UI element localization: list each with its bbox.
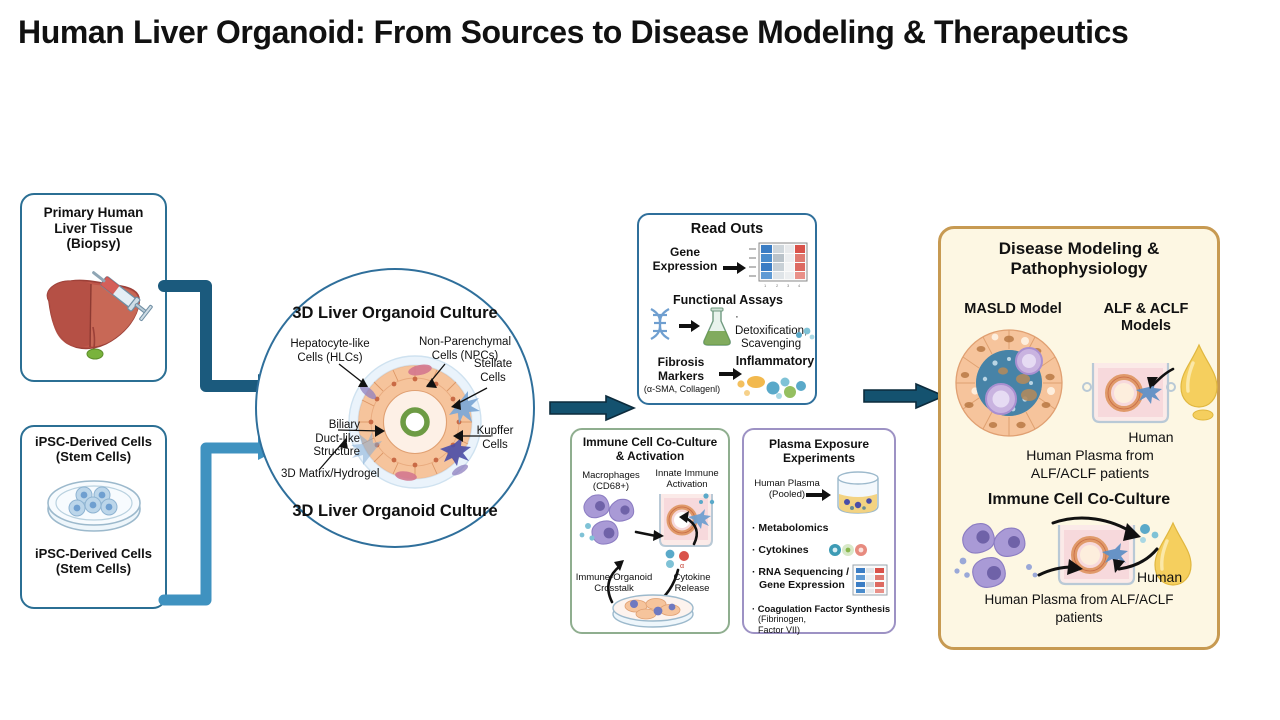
steatotic-organoid-icon — [951, 325, 1067, 441]
plasma-into-bioreactor-arrow-icon — [1139, 365, 1179, 393]
immune-panel-title: Immune Cell Co-Culture & Activation — [572, 436, 728, 463]
rna-seq-line-1: RNA Sequencing / — [758, 566, 849, 578]
primary-tissue-line-2: Liver Tissue — [22, 221, 165, 237]
plasma-arrow-icon — [806, 488, 832, 502]
source-card-ipsc-derived-cells[interactable]: iPSC-Derived Cells (Stem Cells) iPSC-Der… — [20, 425, 167, 609]
disease-title-line-1: Disease Modeling & — [941, 239, 1217, 259]
disease-panel-title: Disease Modeling & Pathophysiology — [941, 239, 1217, 278]
dna-helix-icon — [645, 307, 679, 349]
ipsc-title-label: iPSC-Derived Cells (Stem Cells) — [22, 435, 165, 465]
gene-expression-line-2: Expression — [647, 259, 723, 273]
svg-text:α: α — [680, 563, 684, 570]
petri-dish-organoids-icon — [610, 590, 696, 628]
immune-coculture-panel[interactable]: Immune Cell Co-Culture & Activation Macr… — [570, 428, 730, 634]
coagulation-text: Coagulation Factor Synthesis — [758, 603, 890, 614]
plasma-title-line-2: Experiments — [744, 452, 894, 466]
plasma-title-line-1: Plasma Exposure — [744, 438, 894, 452]
fibrosis-line-2: Markers — [641, 369, 721, 383]
ipsc-title-line-1: iPSC-Derived Cells — [22, 435, 165, 450]
immune-title-line-2: & Activation — [572, 450, 728, 464]
functional-assays-label: Functional Assays — [663, 293, 793, 308]
ipsc-caption-line-2: (Stem Cells) — [22, 562, 165, 577]
primary-tissue-line-3: (Biopsy) — [22, 236, 165, 252]
macrophages-line-1: Macrophages — [574, 470, 648, 481]
svg-text:3: 3 — [787, 283, 790, 288]
plasma-beaker-icon — [832, 472, 888, 518]
primary-tissue-label: Primary Human Liver Tissue (Biopsy) — [22, 205, 165, 252]
cytokine-dots-icon — [828, 543, 870, 557]
organoid-title-top: 3D Liver Organoid Culture — [255, 304, 535, 323]
plasma-bullet-coagulation: · Coagulation Factor Synthesis — [752, 603, 894, 614]
cytokine-particles-icon — [735, 372, 815, 400]
crosstalk-line-1: Immune-Organoid — [572, 572, 656, 583]
bullet-dot: · — [752, 566, 756, 578]
heatmap-icon: 1234 — [747, 241, 809, 289]
innate-line-1: Innate Immune — [648, 468, 726, 479]
ipsc-title-line-2: (Stem Cells) — [22, 450, 165, 465]
arrow-readouts-to-disease — [862, 383, 948, 413]
disease-title-line-2: Pathophysiology — [941, 259, 1217, 279]
coculture-plasma-caption: Human Plasma from ALF/ACLF patients — [947, 591, 1211, 626]
plasma-bullet-metabolomics: · Metabolomics — [752, 522, 890, 534]
coculture-caption-line-1: Human Plasma from ALF/ACLF — [947, 591, 1211, 609]
plasma-bullet-rna-seq: · RNA Sequencing / Gene Expression — [752, 566, 852, 592]
rna-seq-line-2: Gene Expression — [752, 579, 852, 592]
alf-label-line-1: ALF & ACLF — [1081, 301, 1211, 318]
liver-with-syringe-icon — [35, 257, 153, 365]
readouts-panel[interactable]: Read Outs Gene Expression — [637, 213, 817, 405]
immune-title-line-1: Immune Cell Co-Culture — [572, 436, 728, 450]
bullet-dot: · — [752, 522, 756, 534]
readouts-title: Read Outs — [639, 221, 815, 238]
coculture-human-label: Human — [1137, 569, 1217, 585]
organoid-leader-lines — [255, 330, 540, 510]
plasma-caption-line-1: Human Plasma from — [969, 447, 1211, 465]
gene-expression-label: Gene Expression — [647, 245, 723, 273]
gene-expression-line-1: Gene — [647, 245, 723, 259]
coagulation-sub-label: (Fibrinogen, Factor VII) — [758, 614, 888, 637]
cytokines-text: Cytokines — [758, 544, 808, 556]
coagulation-sub-line-2: Factor VII) — [758, 625, 888, 636]
inflammatory-label: Inflammatory — [735, 354, 815, 369]
plasma-panel-title: Plasma Exposure Experiments — [744, 438, 894, 466]
metabolomics-text: Metabolomics — [758, 522, 828, 534]
erlenmeyer-flask-icon — [701, 307, 733, 347]
ipsc-caption-label: iPSC-Derived Cells (Stem Cells) — [22, 547, 165, 577]
alf-aclf-models-label: ALF & ACLF Models — [1081, 301, 1211, 334]
petri-dish-stem-cells-icon — [44, 475, 144, 537]
scavenging-particles-icon — [794, 327, 816, 341]
source-card-primary-liver-tissue[interactable]: Primary Human Liver Tissue (Biopsy) — [20, 193, 167, 382]
svg-text:4: 4 — [798, 283, 801, 288]
functional-assay-arrow-icon — [679, 319, 701, 333]
bullet-dot: · — [752, 544, 756, 556]
page-title: Human Liver Organoid: From Sources to Di… — [18, 14, 1262, 51]
alf-plasma-caption: Human Plasma from ALF/ACLF patients — [969, 447, 1211, 482]
fibrosis-markers-label: Fibrosis Markers — [641, 355, 721, 383]
plasma-exposure-panel[interactable]: Plasma Exposure Experiments Human Plasma… — [742, 428, 896, 634]
plasma-caption-line-2: ALF/ACLF patients — [969, 465, 1211, 483]
coagulation-sub-line-1: (Fibrinogen, — [758, 614, 888, 625]
disease-modeling-panel[interactable]: Disease Modeling & Pathophysiology MASLD… — [938, 226, 1220, 650]
coculture-caption-line-2: patients — [947, 609, 1211, 627]
alf-label-line-2: Models — [1081, 318, 1211, 335]
gene-expression-arrow-icon — [723, 261, 747, 275]
bullet-dot: · — [735, 311, 741, 325]
fibrosis-markers-sub: (α-SMA, Collagenl) — [639, 384, 725, 395]
bullet-dot: · — [752, 603, 755, 614]
alf-human-label: Human — [1091, 429, 1211, 445]
arrow-organoid-to-readouts — [548, 395, 638, 425]
diagram-canvas: Human Liver Organoid: From Sources to Di… — [0, 0, 1280, 720]
svg-text:1: 1 — [764, 283, 767, 288]
ipsc-caption-line-1: iPSC-Derived Cells — [22, 547, 165, 562]
plasma-droplet-icon — [1177, 341, 1223, 425]
immune-coculture-title: Immune Cell Co-Culture — [941, 491, 1217, 509]
masld-model-label: MASLD Model — [949, 301, 1077, 318]
cytokine-line-1: Cytokine — [660, 572, 724, 583]
cytokine-dots-icon: α — [662, 548, 706, 570]
fibrosis-line-1: Fibrosis — [641, 355, 721, 369]
heatmap-icon — [852, 564, 888, 596]
primary-tissue-line-1: Primary Human — [22, 205, 165, 221]
svg-text:2: 2 — [776, 283, 779, 288]
